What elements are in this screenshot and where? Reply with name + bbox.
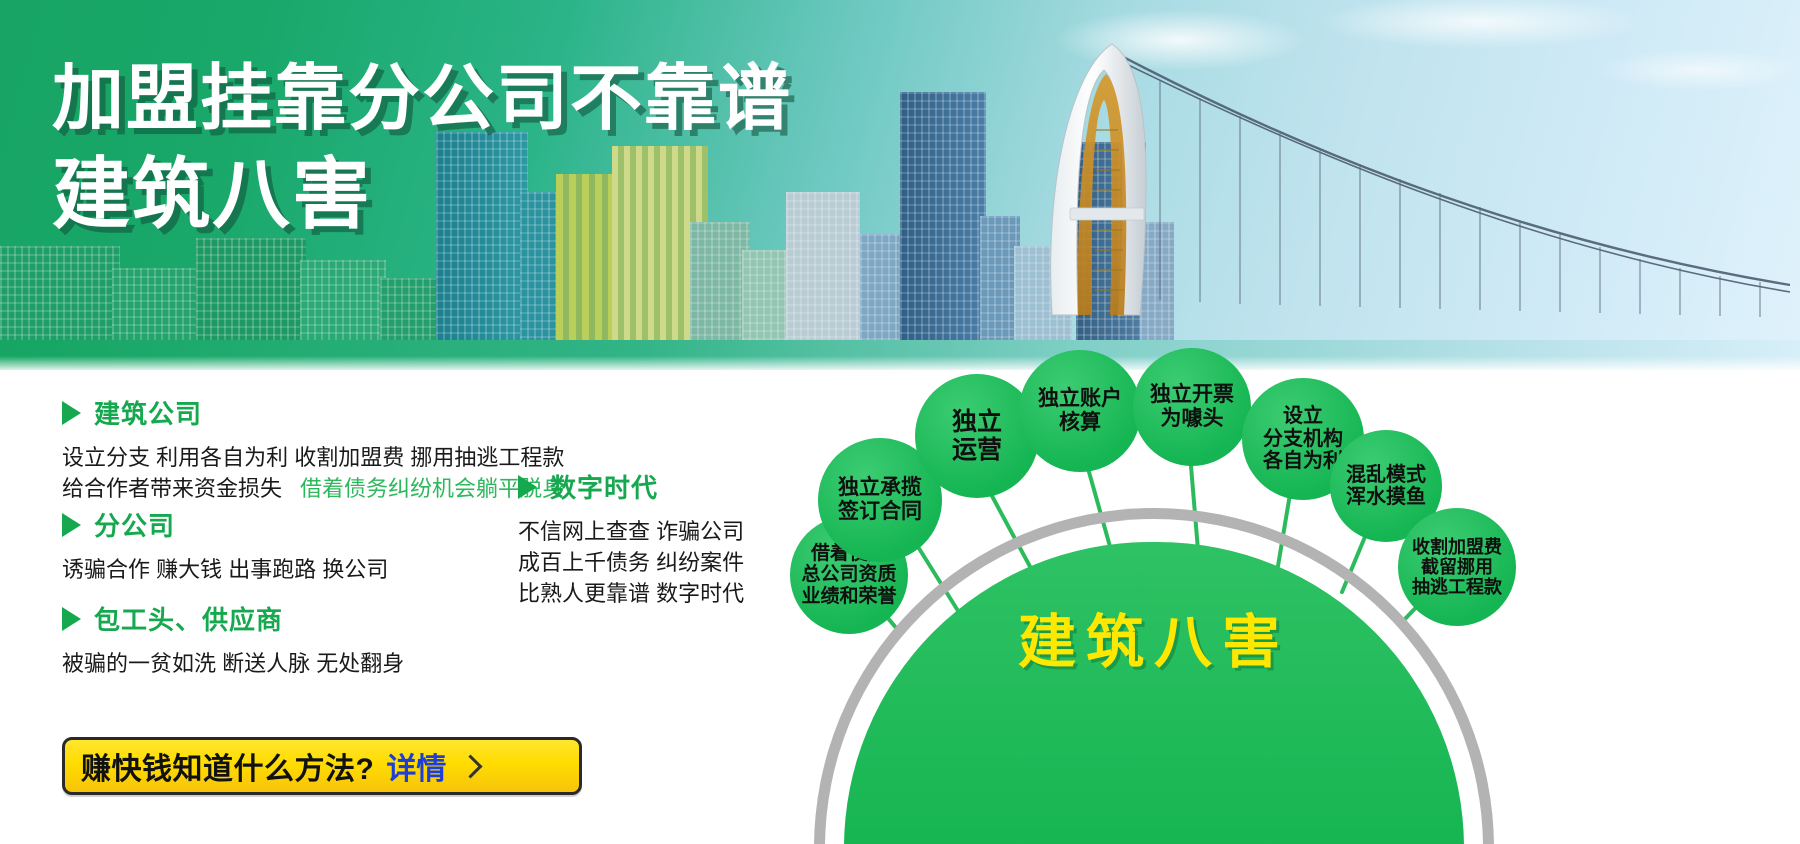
headline-line-1: 加盟挂靠分公司不靠谱 [52, 56, 792, 142]
section-body: 不信网上查查 诈骗公司 成百上千债务 纠纷案件 比熟人更靠谱 数字时代 [518, 516, 744, 609]
body-line: 不信网上查查 诈骗公司 [518, 516, 744, 547]
bubble-independent-account[interactable]: 独立账户 核算 [1019, 350, 1141, 472]
bubble-independent-invoice[interactable]: 独立开票 为噱头 [1133, 348, 1251, 466]
body-line: 被骗的一贫如洗 断送人脉 无处翻身 [62, 648, 404, 679]
section-title: 数字时代 [550, 468, 658, 505]
poster-root: 加盟挂靠分公司不靠谱 建筑八害 建筑公司 设立分支 利用各自为利 收割加盟费 挪… [0, 0, 1800, 844]
hero-banner: 加盟挂靠分公司不靠谱 建筑八害 [0, 0, 1800, 370]
bubble-independent-operation[interactable]: 独立 运营 [915, 374, 1039, 498]
eight-harms-diagram: 建筑八害 借着使用 总公司资质 业绩和荣誉 独立承揽 签订合同 独立 运营 独立… [790, 330, 1800, 844]
triangle-bullet-icon [62, 607, 81, 631]
section-digital-era: 数字时代 不信网上查查 诈骗公司 成百上千债务 纠纷案件 比熟人更靠谱 数字时代 [518, 468, 744, 609]
section-title: 建筑公司 [94, 394, 202, 431]
section-body: 被骗的一贫如洗 断送人脉 无处翻身 [62, 648, 404, 679]
section-construction-company: 建筑公司 设立分支 利用各自为利 收割加盟费 挪用抽逃工程款 给合作者带来资金损… [62, 394, 564, 504]
section-header: 数字时代 [518, 468, 744, 505]
section-header: 分公司 [62, 506, 388, 543]
section-contractor-supplier: 包工头、供应商 被骗的一贫如洗 断送人脉 无处翻身 [62, 600, 404, 679]
triangle-bullet-icon [518, 475, 537, 499]
bridge-illustration [1000, 30, 1800, 330]
bubble-franchise-fee-harvest[interactable]: 收割加盟费 截留挪用 抽逃工程款 [1398, 508, 1516, 626]
cta-question-label: 赚快钱知道什么方法? [81, 744, 374, 788]
section-body: 设立分支 利用各自为利 收割加盟费 挪用抽逃工程款 给合作者带来资金损失借着债务… [62, 442, 564, 504]
chevron-right-icon [459, 754, 483, 778]
cta-button[interactable]: 赚快钱知道什么方法? 详情 [62, 737, 582, 795]
triangle-bullet-icon [62, 401, 81, 425]
section-body: 诱骗合作 赚大钱 出事跑路 换公司 [62, 554, 388, 585]
section-branch-company: 分公司 诱骗合作 赚大钱 出事跑路 换公司 [62, 506, 388, 585]
section-header: 包工头、供应商 [62, 600, 404, 637]
body-line: 比熟人更靠谱 数字时代 [518, 578, 744, 609]
body-line: 设立分支 利用各自为利 收割加盟费 挪用抽逃工程款 [62, 442, 564, 473]
section-title: 包工头、供应商 [94, 600, 283, 637]
section-header: 建筑公司 [62, 394, 564, 431]
cta-detail-link[interactable]: 详情 [386, 744, 446, 788]
section-title: 分公司 [94, 506, 175, 543]
body-line: 给合作者带来资金损失借着债务纠纷机会躺平脱身 [62, 473, 564, 504]
body-line: 诱骗合作 赚大钱 出事跑路 换公司 [62, 554, 388, 585]
page-title: 加盟挂靠分公司不靠谱 建筑八害 [52, 56, 792, 240]
headline-line-2: 建筑八害 [52, 148, 792, 240]
dome-center-label: 建筑八害 [844, 595, 1464, 679]
body-line: 成百上千债务 纠纷案件 [518, 547, 744, 578]
triangle-bullet-icon [62, 513, 81, 537]
